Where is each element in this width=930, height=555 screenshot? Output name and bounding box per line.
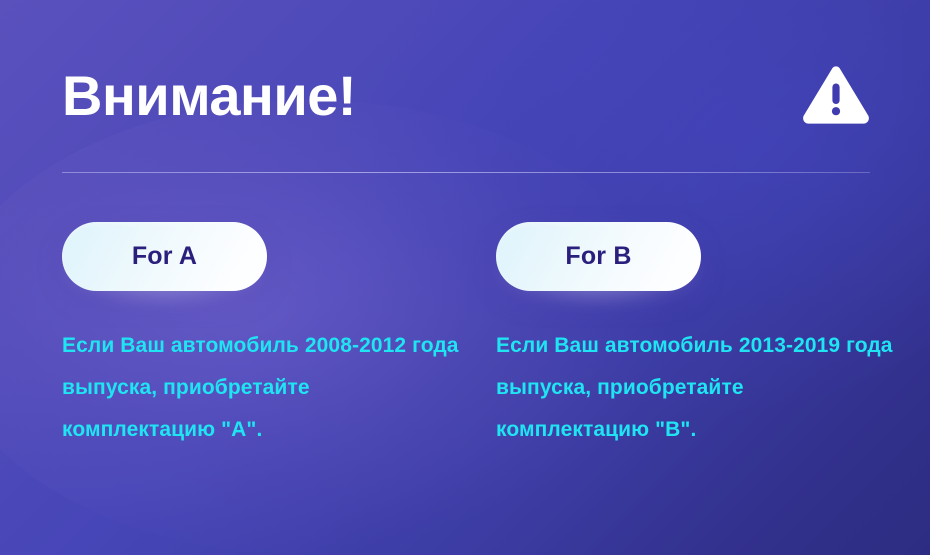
attention-banner: Внимание! For A Если Ваш автомобиль 2008…: [0, 0, 930, 555]
option-column-b: For B Если Ваш автомобиль 2013-2019 года…: [496, 222, 930, 451]
for-b-button[interactable]: For B: [496, 222, 701, 291]
warning-triangle-icon: [802, 65, 870, 127]
option-b-description: Если Ваш автомобиль 2013-2019 года выпус…: [496, 325, 896, 451]
option-column-a: For A Если Ваш автомобиль 2008-2012 года…: [62, 222, 496, 451]
option-a-description: Если Ваш автомобиль 2008-2012 года выпус…: [62, 325, 462, 451]
header-divider: [62, 172, 870, 173]
banner-header: Внимание!: [62, 52, 870, 140]
pill-wrap-b: For B: [496, 222, 701, 291]
for-a-button[interactable]: For A: [62, 222, 267, 291]
pill-wrap-a: For A: [62, 222, 267, 291]
options-columns: For A Если Ваш автомобиль 2008-2012 года…: [62, 222, 874, 451]
banner-content: Внимание! For A Если Ваш автомобиль 2008…: [0, 0, 930, 555]
page-title: Внимание!: [62, 68, 356, 124]
